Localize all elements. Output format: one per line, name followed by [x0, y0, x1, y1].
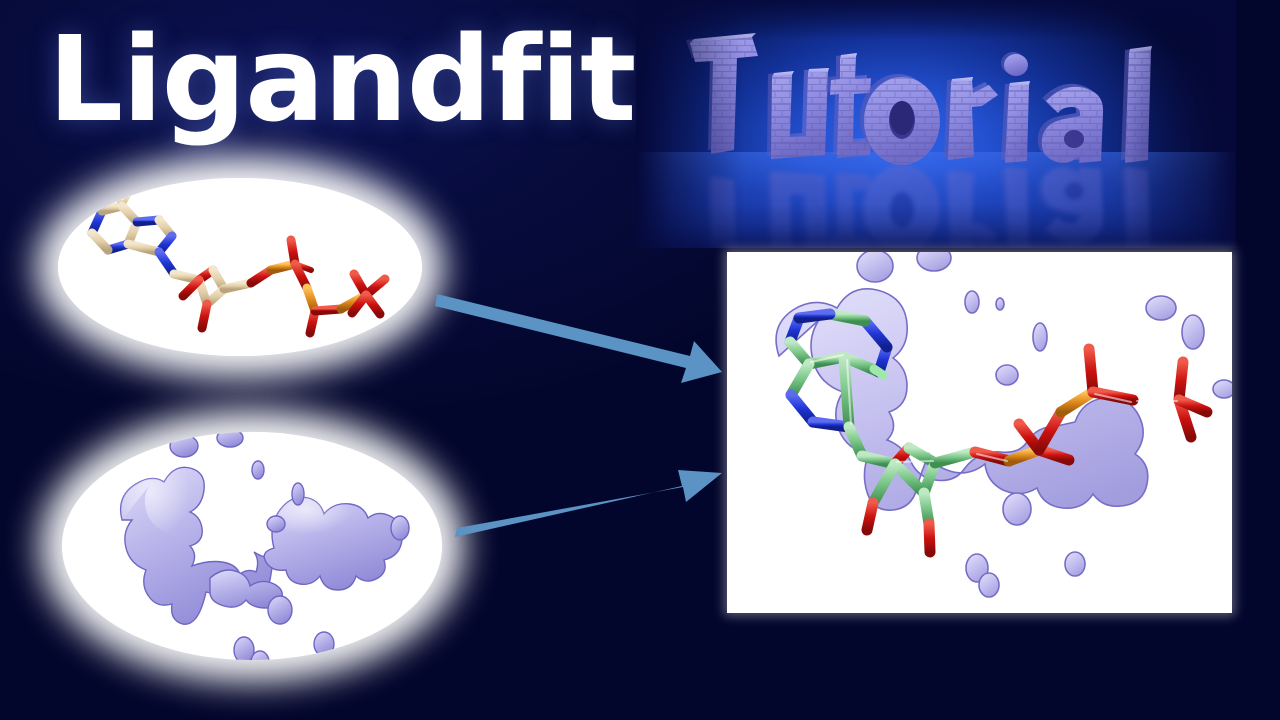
ligand-ellipse-card: [58, 178, 422, 356]
page-title: Ligandfit: [48, 18, 635, 142]
tutorial-banner: [636, 0, 1236, 248]
tutorial-3d-text: [636, 0, 1236, 248]
fitted-result-diagram: [727, 252, 1232, 613]
density-map-diagram: [62, 432, 442, 660]
slide-canvas: Ligandfit: [0, 0, 1280, 720]
arrow-ligand-to-result: [435, 294, 722, 383]
density-card-clip: [62, 432, 442, 660]
ligand-molecule-diagram: [58, 178, 422, 356]
arrow-density-to-result: [455, 470, 722, 537]
density-ellipse-card: [62, 432, 442, 660]
fitted-result-panel: [727, 252, 1232, 613]
ligand-card-clip: [58, 178, 422, 356]
